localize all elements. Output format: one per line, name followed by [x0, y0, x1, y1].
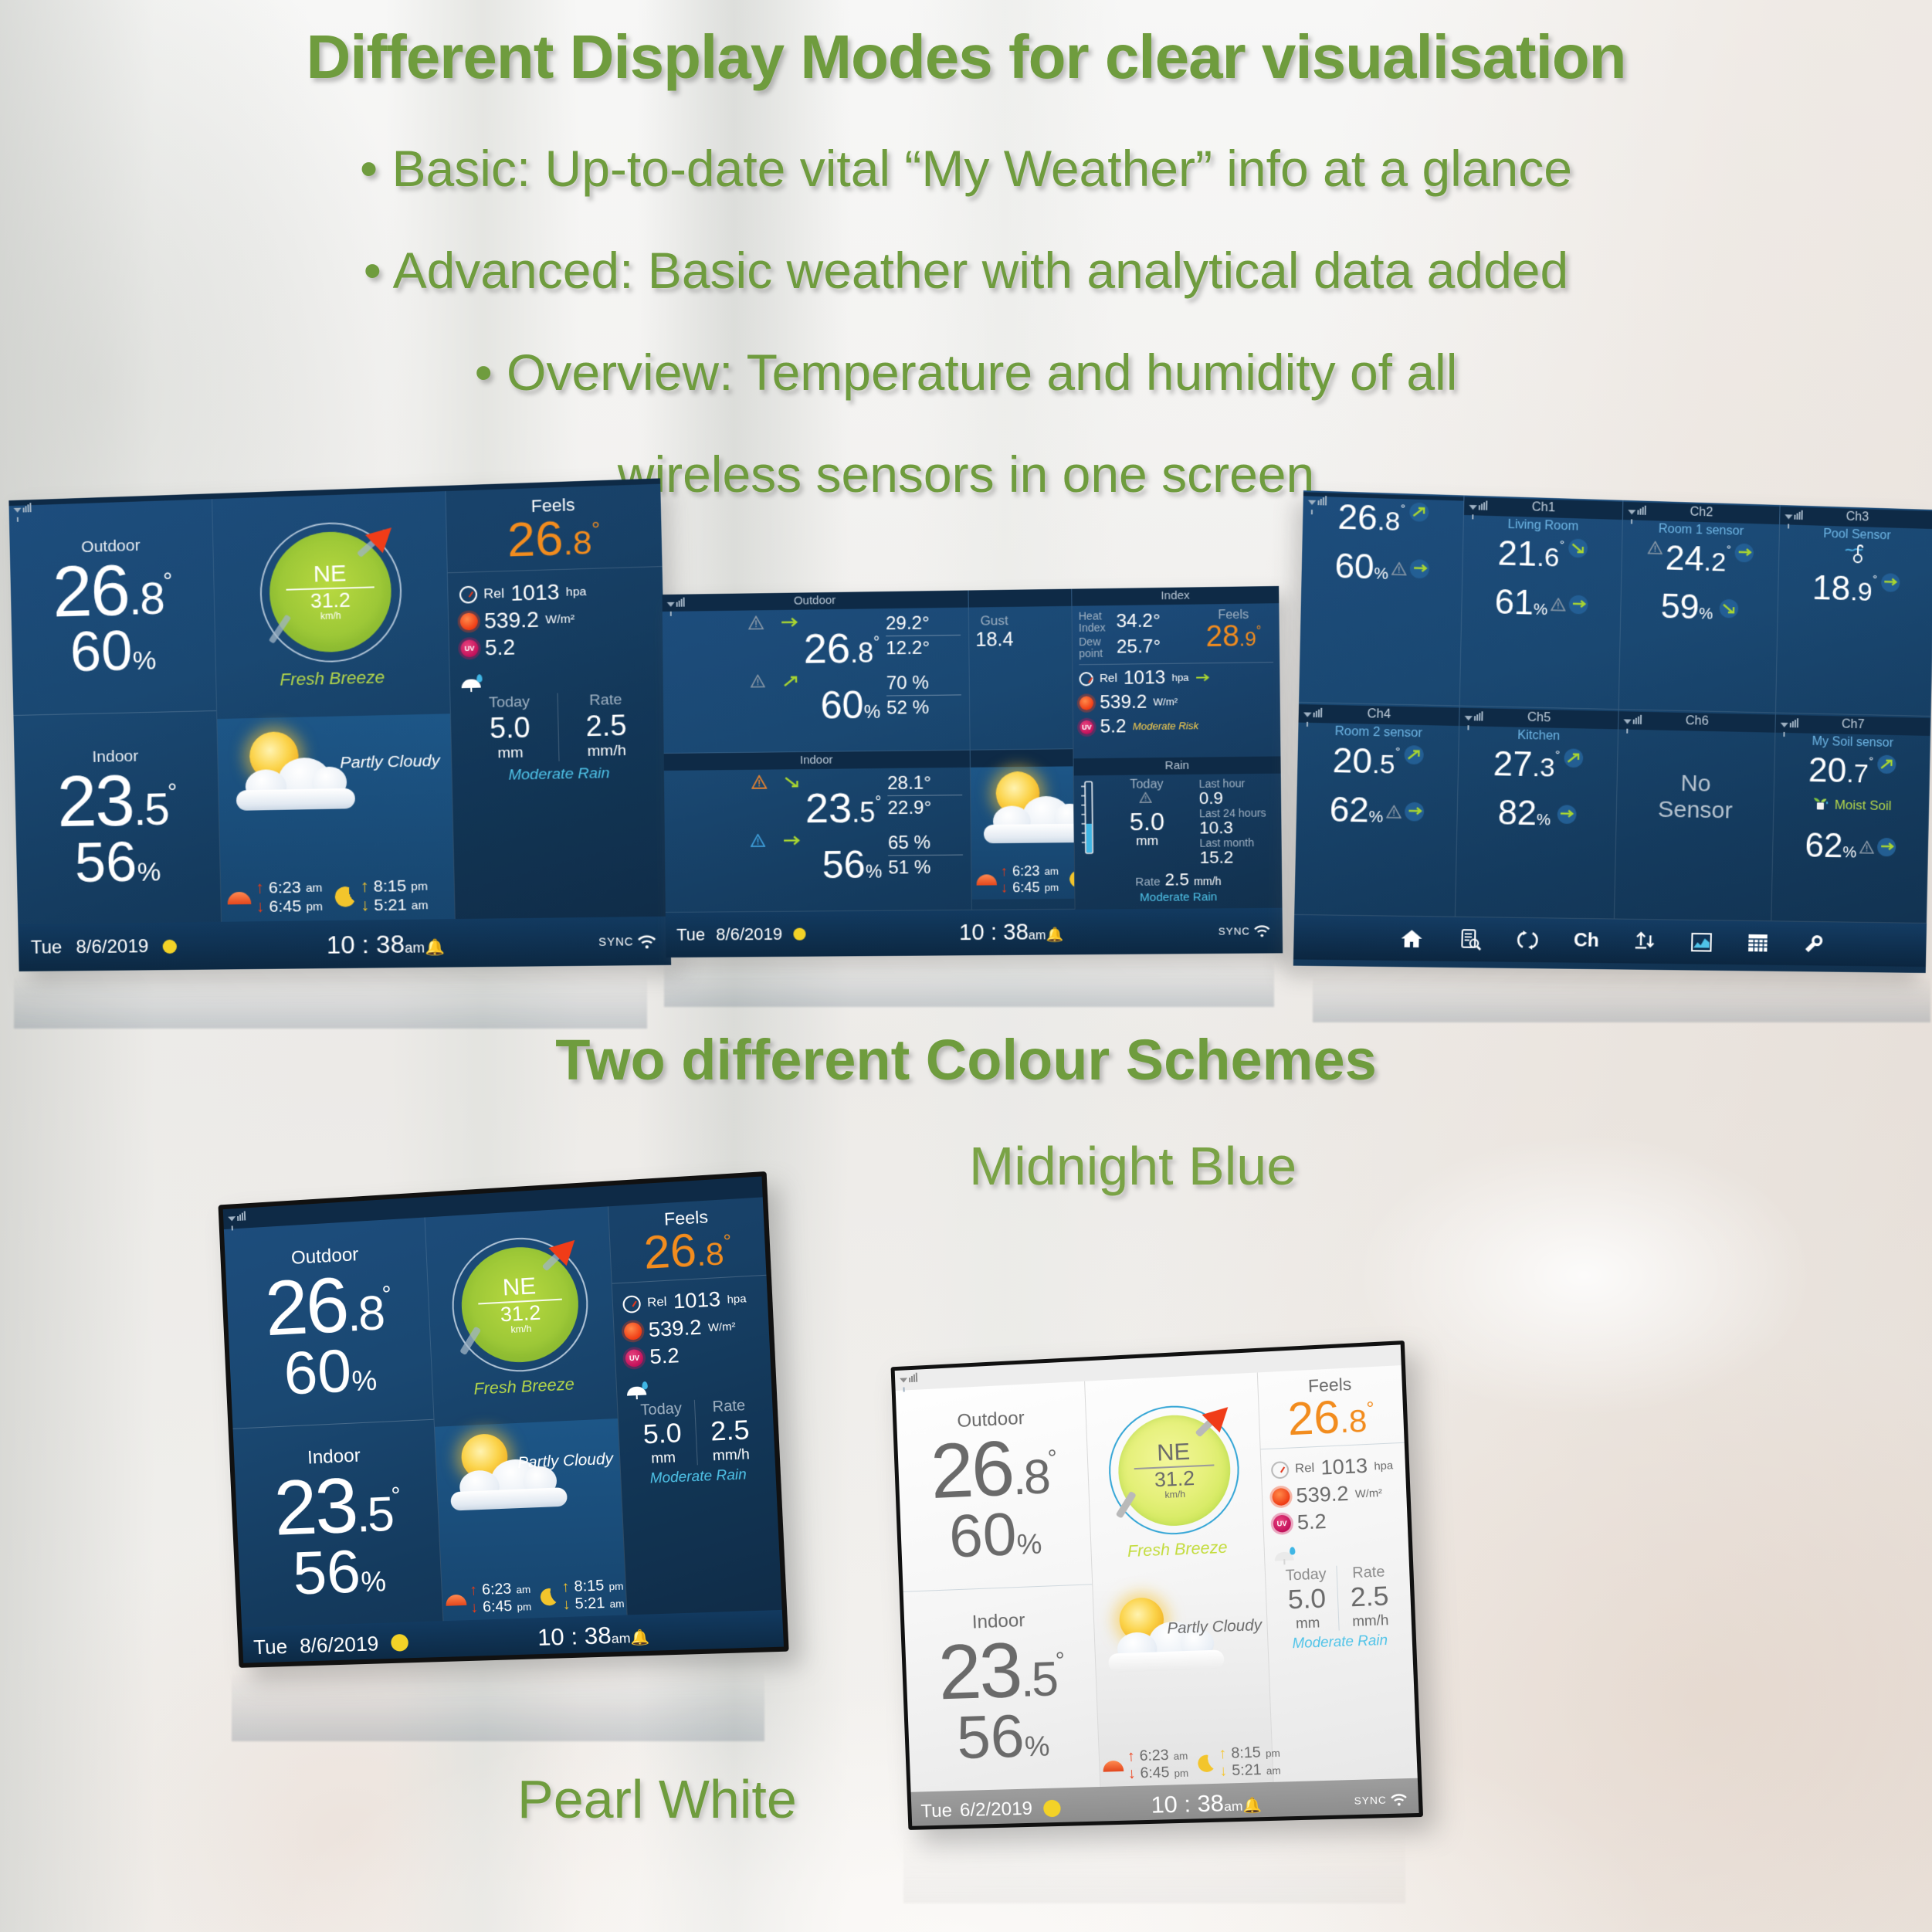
advanced-outdoor-hum-min: 52 %	[886, 696, 961, 720]
pearl-indoor-temperature: 23.5°	[937, 1634, 1065, 1708]
console-advanced-mode[interactable]: Outdoor 26.8°	[663, 586, 1283, 958]
wind-speed-unit: km/h	[510, 1323, 532, 1335]
trend-down-right-icon	[1568, 538, 1588, 558]
overview-humidity-row: 59%	[1621, 588, 1778, 627]
overview-channel-label: Ch2	[1690, 505, 1713, 519]
trend-down-right-icon	[1719, 599, 1738, 619]
uv-index-icon	[1273, 1514, 1291, 1532]
alarm-warning-icon	[751, 675, 766, 689]
midnight-indoor-humidity: 56%	[292, 1540, 387, 1604]
advanced-clock: 10 : 38am🔔	[959, 920, 1063, 946]
umbrella-rain-icon	[626, 1381, 648, 1400]
uv-row: 5.2	[625, 1339, 761, 1371]
overview-humidity-row: 82%	[1457, 795, 1616, 832]
basic-index-rain-column: Feels 26.8° Rel 1013 hpa 539.2 W/m²	[446, 484, 669, 919]
rain-description: Moderate Rain	[631, 1466, 766, 1488]
signal-strength-icon	[1785, 509, 1805, 520]
pearl-day: Tue	[920, 1800, 953, 1822]
console-overview-mode[interactable]: Outdoor26.8°60%Ch1Living Room21.6°61%Ch2…	[1293, 490, 1932, 973]
pearl-wind-description: Fresh Breeze	[1127, 1539, 1228, 1562]
moon-icon	[335, 886, 356, 907]
console-midnight-blue[interactable]: Outdoor 26.8° 60% Indoor 23.5° 56%	[218, 1171, 788, 1668]
overview-cell-header: Ch2	[1623, 502, 1780, 524]
trend-right-icon	[1881, 573, 1900, 592]
barometer-icon	[1079, 672, 1093, 686]
midnight-rain-block[interactable]: Today 5.0 mm Rate 2.5 mm/h Moderate Rain	[617, 1372, 782, 1615]
rain-last-month-value: 15.2	[1200, 849, 1276, 866]
pressure-row: Rel 1013 hpa	[1270, 1452, 1395, 1483]
overview-channel-label: Ch5	[1527, 711, 1551, 725]
pearl-clock: 10 : 38am🔔	[1151, 1789, 1263, 1818]
rain-rate-row: Rate 2.5 mm/h	[1075, 869, 1282, 891]
rain-last-24-value: 10.3	[1199, 819, 1275, 836]
barometer-icon	[459, 586, 477, 604]
basic-sunrise-time: 6:23	[269, 879, 301, 898]
sunrise-icon	[227, 892, 251, 905]
refresh-icon[interactable]	[1517, 929, 1539, 951]
overview-no-sensor: NoSensor	[1615, 729, 1774, 864]
rain-today-value: 5.0	[1276, 1583, 1338, 1616]
umbrella-rain-icon	[1274, 1547, 1296, 1565]
solar-row: 539.2 W/m²	[624, 1312, 760, 1344]
rain-description: Moderate Rain	[463, 764, 656, 785]
console-basic-mode[interactable]: Outdoor 26.8° 60% Indoor 23.5° 56%	[8, 478, 671, 971]
solar-unit: W/m²	[545, 612, 575, 626]
pressure-unit: hpa	[566, 585, 587, 598]
overview-temperature-row: 27.3°	[1459, 747, 1618, 785]
rain-rate-unit: mm/h	[697, 1446, 765, 1465]
uv-value: 5.2	[1100, 716, 1126, 738]
overview-sensor-name: Living Room	[1464, 517, 1622, 535]
overview-temperature-value: 24.2	[1665, 541, 1727, 578]
pressure-prefix: Rel	[483, 586, 504, 602]
rain-today-unit: mm	[1100, 833, 1195, 849]
plant-icon	[1811, 794, 1830, 815]
advanced-indoor-hum-max: 65 %	[888, 832, 963, 856]
bullet-advanced: • Advanced: Basic weather with analytica…	[0, 241, 1932, 300]
wind-compass-dial[interactable]: NE 31.2 km/h	[1107, 1403, 1242, 1537]
basic-feels-value: 26.8°	[458, 513, 651, 565]
signal-strength-icon	[1623, 713, 1644, 724]
overview-sensor-name: My Soil sensor	[1775, 734, 1930, 751]
rain-today-value: 5.0	[462, 710, 558, 746]
advanced-outdoor-temp-min: 12.2°	[886, 636, 961, 659]
uv-index-icon	[460, 640, 478, 658]
advanced-feels-value: 28.9°	[1194, 622, 1273, 652]
solar-row: 539.2 W/m²	[459, 605, 652, 635]
solar-radiation-icon	[460, 613, 478, 631]
overview-sensor-name: Kitchen	[1459, 727, 1618, 745]
moon-icon	[1198, 1754, 1216, 1772]
sun-times: ↑6:23am ↓6:45pm	[976, 863, 1059, 897]
trend-right-icon	[1410, 559, 1429, 578]
midnight-forecast-description: Partly Cloudy	[517, 1451, 614, 1473]
rain-today-label: Today	[1099, 778, 1194, 792]
pearl-outdoor-temperature: 26.8°	[930, 1431, 1056, 1507]
overview-temperature-row: 20.7°	[1774, 753, 1930, 790]
sun-times: ↑6:23am ↓6:45pm	[1103, 1747, 1189, 1784]
minmax-icon[interactable]	[1634, 930, 1656, 953]
pearl-forecast-block[interactable]: Partly Cloudy ↑6:23am ↓6:45pm ↑8:15pm	[1093, 1585, 1273, 1787]
sync-indicator: SYNC	[1219, 924, 1272, 938]
pearl-sensor-readouts: Rel 1013 hpa 539.2 W/m² 5.2	[1260, 1443, 1408, 1545]
pearl-feels-block[interactable]: Feels 26.8°	[1258, 1365, 1405, 1449]
overview-humidity-value: 82%	[1497, 796, 1551, 832]
rain-today-value: 5.0	[1100, 809, 1195, 834]
overview-cell-header: Ch6	[1618, 711, 1775, 733]
rain-rate-label: Rate	[1337, 1564, 1400, 1584]
alarm-warning-icon	[1647, 541, 1663, 554]
overview-cell-ch4[interactable]: Ch4Room 2 sensor20.5°62%	[1294, 703, 1460, 917]
basic-moonset-time: 5:21	[374, 896, 407, 915]
midnight-outdoor-humidity: 60%	[283, 1338, 378, 1403]
basic-date: 8/6/2019	[76, 936, 149, 958]
solar-value: 539.2	[1296, 1481, 1349, 1508]
overview-cell-ch1[interactable]: Ch1Living Room21.6°61%	[1460, 496, 1624, 710]
advanced-indoor-temp-max: 28.1°	[887, 772, 962, 796]
solar-row: 539.2 W/m²	[1272, 1480, 1397, 1510]
heat-index-value: 34.2°	[1116, 610, 1161, 632]
trend-up-right-icon	[1404, 745, 1423, 764]
graph-icon[interactable]	[1690, 932, 1713, 953]
pressure-value: 1013	[673, 1287, 721, 1314]
midnight-wind-forecast-column: NE 31.2 km/h Fresh Breeze Partly Cloudy	[424, 1206, 627, 1621]
page-title: Different Display Modes for clear visual…	[0, 22, 1932, 93]
signal-strength-icon	[1781, 717, 1802, 728]
overview-cell-ch3[interactable]: Ch3Pool Sensor18.9°	[1776, 505, 1932, 717]
advanced-outdoor-temperature: 26.8°	[670, 629, 880, 671]
record-search-icon[interactable]	[1459, 928, 1482, 951]
rain-today-unit: mm	[630, 1449, 697, 1468]
advanced-indoor-hum-min: 51 %	[888, 856, 963, 880]
basic-feels-block[interactable]: Feels 26.8°	[446, 484, 662, 574]
wind-speed-value: 31.2	[310, 590, 351, 612]
rain-gauge-icon	[1080, 778, 1095, 867]
advanced-outdoor-hum-max: 70 %	[886, 673, 961, 697]
midnight-temp-column: Outdoor 26.8° 60% Indoor 23.5° 56%	[224, 1218, 442, 1628]
rain-today-value: 5.0	[629, 1418, 697, 1452]
wind-direction-value: NE	[502, 1274, 536, 1300]
overview-humidity-row: 62%	[1296, 792, 1458, 830]
solar-value: 539.2	[1100, 691, 1147, 713]
advanced-outdoor-quadrant[interactable]: Outdoor 26.8°	[663, 591, 971, 754]
pearl-rain-block[interactable]: Today 5.0 mm Rate 2.5 mm/h Moderate Rain	[1264, 1539, 1417, 1782]
overview-channel-label: Ch4	[1367, 707, 1391, 721]
moon-phase-icon	[391, 1634, 408, 1652]
solar-value: 539.2	[648, 1315, 702, 1342]
pearl-indoor-humidity: 56%	[956, 1704, 1051, 1768]
alarm-warning-icon	[748, 615, 764, 629]
overview-cell-ch7[interactable]: Ch7My Soil sensor20.7°Moist Soil62%	[1771, 713, 1930, 924]
heat-index-label: Heat Index	[1079, 610, 1112, 633]
overview-soil-status: Moist Soil	[1835, 797, 1892, 813]
signal-strength-icon	[1469, 500, 1490, 510]
trend-right-icon	[783, 836, 803, 846]
signal-strength-icon	[13, 502, 33, 513]
advanced-wind-gust: Gust 18.4	[975, 613, 1014, 652]
basic-day: Tue	[31, 937, 63, 958]
overview-cell-header: Ch3	[1780, 507, 1932, 529]
pearl-white-label: Pearl White	[517, 1768, 797, 1830]
basic-wind-block[interactable]: NE 31.2 km/h Fresh Breeze	[212, 491, 450, 719]
wind-speed-unit: km/h	[320, 611, 341, 622]
overview-degree-symbol: °	[1555, 748, 1561, 761]
overview-degree-symbol: °	[1395, 745, 1401, 758]
solar-radiation-icon	[624, 1322, 642, 1341]
alarm-warning-icon	[1551, 597, 1566, 611]
pressure-row: Rel 1013 hpa	[1079, 666, 1273, 690]
basic-sensor-readouts: Rel 1013 hpa 539.2 W/m² 5.2	[448, 567, 665, 672]
overview-degree-symbol: °	[1873, 573, 1877, 586]
basic-forecast-block[interactable]: Partly Cloudy ↑6:23am ↓6:45pm ↑8:15pm	[217, 713, 454, 922]
midnight-feels-block[interactable]: Feels 26.8°	[608, 1197, 766, 1283]
moon-times: ↑8:15pm ↓5:21am	[540, 1577, 625, 1615]
moon-phase-icon	[793, 928, 805, 941]
midnight-wind-description: Fresh Breeze	[473, 1375, 575, 1399]
basic-temp-column: Outdoor 26.8° 60% Indoor 23.5° 56%	[9, 499, 222, 924]
overview-sensor-name: Room 2 sensor	[1298, 724, 1459, 742]
trend-right-icon	[1405, 802, 1424, 822]
trend-right-icon	[1557, 805, 1576, 824]
trend-right-icon	[781, 617, 801, 628]
sunrise-icon	[446, 1595, 466, 1606]
dew-point-label: Dew point	[1079, 636, 1112, 659]
advanced-footer-bar[interactable]: Tue 8/6/2019 10 : 38am🔔 SYNC	[666, 908, 1283, 958]
trend-right-icon	[1735, 544, 1754, 563]
uv-index-icon	[625, 1349, 643, 1368]
pearl-temp-column: Outdoor 26.8° 60% Indoor 23.5° 56%	[896, 1381, 1100, 1792]
pressure-value: 1013	[1320, 1453, 1368, 1480]
midnight-outdoor-block[interactable]: Outdoor 26.8° 60%	[224, 1218, 433, 1429]
overview-temperature-value: 27.3	[1493, 747, 1555, 782]
overview-temperature-value: 20.5	[1332, 744, 1395, 780]
bullet-overview: • Overview: Temperature and humidity of …	[0, 343, 1932, 402]
basic-indoor-humidity: 56%	[74, 835, 161, 889]
overview-navigation-bar[interactable]: Ch	[1293, 915, 1927, 967]
overview-humidity-value: 59%	[1660, 590, 1713, 625]
wind-speed-value: 31.2	[1154, 1467, 1195, 1490]
midnight-clock: 10 : 38am🔔	[537, 1622, 650, 1652]
uv-value: 5.2	[485, 636, 516, 661]
advanced-right-column: Index Heat Index 34.2° Dew point 25.7° F…	[1071, 586, 1282, 910]
overview-degree-symbol: °	[1560, 538, 1565, 551]
basic-indoor-block[interactable]: Indoor 23.5° 56%	[13, 710, 221, 924]
alarm-warning-icon	[1859, 840, 1874, 853]
overview-humidity-row: 61%	[1462, 585, 1621, 623]
wind-description: Fresh Breeze	[280, 667, 385, 690]
umbrella-rain-icon	[461, 674, 483, 692]
wind-compass-dial[interactable]: NE 31.2 km/h	[258, 520, 402, 664]
pearl-outdoor-humidity: 60%	[948, 1502, 1043, 1566]
advanced-indoor-header: Indoor	[664, 751, 970, 771]
overview-channel-label: Ch1	[1532, 500, 1556, 514]
overview-cell-ch5[interactable]: Ch5Kitchen27.3°82%	[1456, 707, 1619, 920]
overview-cell-header: Ch1	[1464, 497, 1622, 520]
overview-temperature-row: 24.2°	[1622, 540, 1778, 578]
signal-strength-icon	[900, 1371, 920, 1382]
pearl-forecast-description: Partly Cloudy	[1167, 1617, 1263, 1638]
midnight-feels-value: 26.8°	[619, 1225, 756, 1276]
wind-speed-value: 31.2	[500, 1302, 541, 1324]
advanced-rain-header: Rain	[1074, 756, 1281, 775]
advanced-index-header: Index	[1072, 586, 1279, 606]
rain-today-unit: mm	[463, 744, 558, 763]
pearl-indoor-block[interactable]: Indoor 23.5° 56%	[903, 1585, 1100, 1792]
basic-outdoor-temperature: 26.8°	[52, 555, 172, 626]
pool-thermometer-icon	[1779, 541, 1932, 570]
wind-direction-value: NE	[1157, 1440, 1191, 1465]
barometer-icon	[622, 1295, 641, 1313]
sync-indicator: SYNC	[598, 934, 658, 950]
solar-value: 539.2	[484, 608, 540, 634]
pearl-date: 6/2/2019	[959, 1798, 1032, 1822]
rain-today-label: Today	[462, 693, 558, 712]
solar-radiation-icon	[1272, 1487, 1290, 1505]
rain-rate-value: 2.5	[1338, 1581, 1402, 1614]
trend-up-right-icon	[1564, 748, 1583, 768]
overview-humidity-value: 62%	[1329, 793, 1384, 829]
midnight-blue-label: Midnight Blue	[969, 1135, 1296, 1197]
rain-rate-unit: mm/h	[559, 742, 656, 761]
overview-temperature-value: 21.6	[1497, 537, 1560, 573]
rain-description: Moderate Rain	[1075, 890, 1282, 904]
uv-risk-label: Moderate Risk	[1133, 720, 1198, 732]
basic-moonrise-time: 8:15	[373, 877, 406, 897]
overview-temperature-row: 20.5°	[1297, 743, 1459, 781]
rain-rate-value: 2.5	[558, 708, 655, 744]
basic-clock: 10 : 38am🔔	[326, 929, 445, 959]
overview-cell-header: Ch5	[1459, 708, 1618, 730]
midnight-wind-block[interactable]: NE 31.2 km/h Fresh Breeze	[425, 1206, 618, 1427]
overview-humidity-row: 62%	[1773, 829, 1928, 865]
signal-strength-icon	[1303, 707, 1325, 717]
sunrise-icon	[976, 874, 996, 885]
midnight-outdoor-temperature: 26.8°	[263, 1267, 391, 1344]
advanced-index-block[interactable]: Heat Index 34.2° Dew point 25.7° Feels 2…	[1072, 603, 1280, 758]
partly-cloudy-icon	[1101, 1595, 1231, 1680]
console-pearl-white[interactable]: Outdoor 26.8° 60% Indoor 23.5° 56%	[891, 1341, 1424, 1830]
trend-up-right-icon	[783, 675, 800, 687]
uv-row: 5.2	[460, 632, 652, 661]
sunrise-icon	[1103, 1761, 1124, 1772]
overview-humidity-value: 61%	[1494, 585, 1548, 622]
moon-times: ↑8:15pm ↓5:21am	[334, 876, 428, 916]
partly-cloudy-icon	[442, 1430, 574, 1519]
overview-channel-label: Ch3	[1846, 510, 1869, 524]
table-icon[interactable]	[1747, 933, 1769, 954]
wind-direction-value: NE	[313, 562, 347, 587]
basic-rain-block[interactable]: Today 5.0 mm Rate 2.5 mm/h Moderate Rain	[450, 666, 670, 919]
dew-point-value: 25.7°	[1117, 636, 1161, 659]
uv-index-icon	[1080, 720, 1093, 734]
trend-down-right-icon	[784, 775, 801, 788]
basic-indoor-temperature: 23.5°	[56, 767, 177, 837]
pressure-value: 1013	[510, 580, 560, 606]
advanced-indoor-humidity: 56%	[673, 847, 882, 886]
rain-today-label: Today	[1275, 1566, 1337, 1586]
midnight-indoor-temperature: 23.5°	[273, 1469, 400, 1544]
basic-outdoor-humidity: 60%	[69, 624, 157, 680]
overview-cell-ch6[interactable]: Ch6NoSensor	[1615, 710, 1776, 921]
signal-strength-icon	[1465, 710, 1486, 721]
midnight-indoor-block[interactable]: Indoor 23.5° 56%	[233, 1419, 443, 1627]
rain-rate-unit: mm/h	[1339, 1612, 1402, 1630]
basic-wind-forecast-column: NE 31.2 km/h Fresh Breeze Partly Cloudy	[212, 491, 456, 922]
channel-button[interactable]: Ch	[1574, 930, 1599, 952]
rain-rate-value: 2.5	[696, 1415, 764, 1449]
advanced-indoor-temperature: 23.5°	[672, 788, 882, 830]
sun-times: ↑6:23am ↓6:45pm	[227, 878, 323, 917]
wind-speed-unit: km/h	[1164, 1488, 1185, 1500]
solar-row: 539.2 W/m²	[1080, 690, 1274, 713]
overview-temperature-value: 18.9	[1812, 571, 1873, 607]
overview-temperature-row: 18.9°	[1778, 570, 1932, 608]
settings-wrench-icon[interactable]	[1803, 933, 1825, 954]
pearl-index-rain-column: Feels 26.8° Rel 1013 hpa 539.2 W/m²	[1257, 1365, 1418, 1782]
overview-temperature-row: 21.6°	[1463, 535, 1622, 574]
partly-cloudy-icon	[229, 728, 365, 817]
uv-row: 5.2	[1273, 1507, 1398, 1536]
alarm-warning-icon	[1391, 561, 1407, 575]
uv-row: 5.2 Moderate Risk	[1080, 714, 1274, 738]
sun-times: ↑6:23am ↓6:45pm	[445, 1580, 532, 1618]
advanced-day: Tue	[676, 925, 705, 945]
overview-humidity-value: 60%	[1334, 549, 1389, 585]
advanced-outdoor-humidity: 60%	[671, 687, 880, 727]
overview-degree-symbol: °	[1400, 502, 1405, 516]
rain-rate-value: 2.5	[1165, 869, 1189, 890]
pearl-wind-block[interactable]: NE 31.2 km/h Fresh Breeze	[1085, 1373, 1265, 1592]
trend-up-right-icon	[1877, 755, 1896, 774]
barometer-icon	[1271, 1461, 1290, 1479]
overview-degree-symbol: °	[1727, 543, 1731, 556]
rain-last-hour-value: 0.9	[1199, 789, 1275, 807]
pressure-row: Rel 1013 hpa	[459, 578, 652, 608]
overview-cell-header: Ch4	[1299, 704, 1459, 726]
alarm-warning-icon	[1386, 805, 1402, 819]
advanced-rain-block[interactable]: Today 5.0 mm Last hour 0.9 Last 24 hours…	[1074, 774, 1282, 871]
overview-sensor-name: Room 1 sensor	[1622, 521, 1779, 540]
uv-value: 5.2	[1296, 1510, 1327, 1535]
pearl-wind-forecast-column: NE 31.2 km/h Fresh Breeze Partly Cloudy	[1084, 1373, 1273, 1788]
overview-degree-symbol: °	[1869, 754, 1873, 768]
basic-outdoor-block[interactable]: Outdoor 26.8° 60%	[9, 499, 217, 715]
basic-footer-bar[interactable]: Tue 8/6/2019 10 : 38am🔔 SYNC	[18, 917, 671, 971]
rain-rate-label: Rate	[558, 690, 654, 710]
moon-phase-icon	[162, 940, 177, 954]
overview-channel-label: Ch6	[1686, 714, 1709, 728]
midnight-forecast-block[interactable]: Partly Cloudy ↑6:23am ↓6:45pm ↑8:15pm	[435, 1418, 627, 1621]
alarm-warning-icon	[1139, 792, 1155, 806]
overview-cell-ch2[interactable]: Ch2Room 1 sensor24.2°59%	[1619, 500, 1781, 713]
overview-humidity-row: 60%	[1301, 548, 1462, 588]
overview-cell-outdoor[interactable]: Outdoor26.8°60%	[1299, 490, 1464, 706]
pearl-feels-value: 26.8°	[1268, 1393, 1394, 1442]
advanced-indoor-quadrant[interactable]: Indoor 23.5°	[664, 751, 972, 913]
solar-radiation-icon	[1080, 696, 1093, 710]
moon-phase-icon	[1043, 1800, 1061, 1818]
wind-compass-dial[interactable]: NE 31.2 km/h	[449, 1234, 591, 1375]
home-icon[interactable]	[1399, 927, 1424, 950]
pearl-outdoor-block[interactable]: Outdoor 26.8° 60%	[896, 1381, 1093, 1592]
overview-channel-label: Ch7	[1842, 717, 1865, 731]
trend-up-right-icon	[1409, 503, 1429, 522]
advanced-indoor-temp-min: 22.9°	[887, 795, 962, 819]
trend-right-icon	[1877, 838, 1896, 856]
advanced-date: 8/6/2019	[716, 924, 782, 945]
midnight-date: 8/6/2019	[299, 1632, 378, 1658]
alarm-warning-icon	[751, 775, 767, 789]
